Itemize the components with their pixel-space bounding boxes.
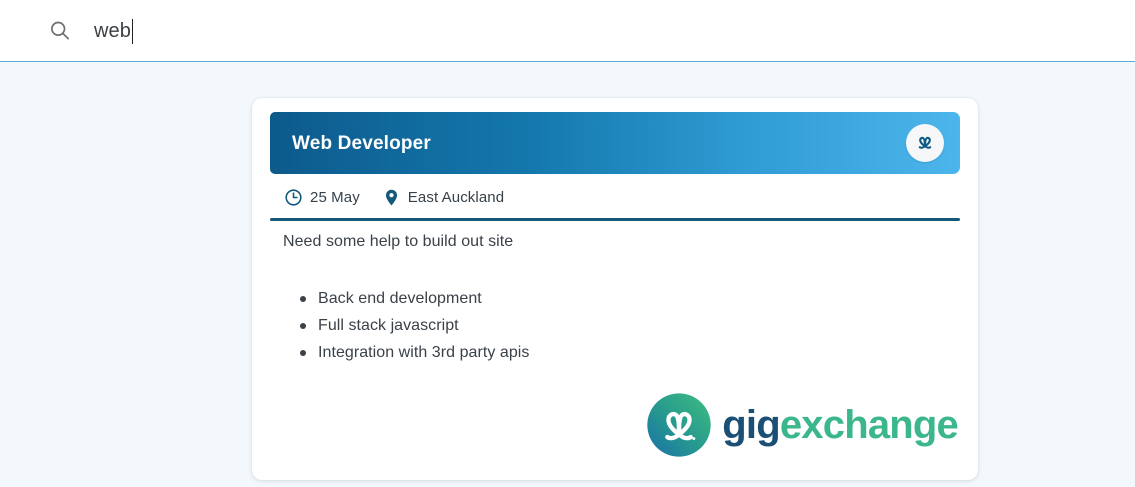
page-title: Web Developer — [292, 133, 431, 155]
job-listing-card[interactable]: Web Developer 25 May — [252, 98, 978, 480]
search-bar: web — [0, 0, 1135, 62]
list-item: Full stack javascript — [300, 313, 529, 339]
meta-date: 25 May — [284, 188, 360, 207]
search-icon[interactable] — [48, 19, 72, 43]
gigexchange-logo-icon — [646, 392, 712, 458]
brand-lockup: gig exchange — [646, 392, 958, 458]
brand-word-exchange: exchange — [780, 404, 958, 446]
list-item: Back end development — [300, 286, 529, 312]
brand-word-gig: gig — [722, 404, 780, 446]
bullet-icon — [300, 323, 306, 329]
clock-icon — [284, 188, 303, 207]
section-divider — [270, 218, 960, 221]
meta-location: East Auckland — [382, 188, 504, 207]
text-caret — [132, 19, 133, 44]
brand-wordmark: gig exchange — [722, 404, 958, 446]
search-input[interactable]: web — [94, 13, 133, 49]
job-requirements-list: Back end development Full stack javascri… — [300, 286, 529, 366]
search-input-value: web — [94, 18, 131, 44]
job-description: Need some help to build out site — [283, 233, 513, 251]
gigexchange-knot-icon — [913, 131, 937, 155]
card-logo-badge[interactable] — [906, 124, 944, 162]
card-meta-row: 25 May East Auckland — [284, 186, 526, 208]
bullet-icon — [300, 350, 306, 356]
results-area: Web Developer 25 May — [0, 63, 1135, 487]
list-item-label: Full stack javascript — [318, 317, 459, 335]
list-item-label: Integration with 3rd party apis — [318, 344, 529, 362]
list-item-label: Back end development — [318, 290, 482, 308]
location-pin-icon — [382, 188, 401, 207]
bullet-icon — [300, 296, 306, 302]
meta-date-label: 25 May — [310, 189, 360, 206]
meta-location-label: East Auckland — [408, 189, 504, 206]
card-header: Web Developer — [270, 112, 960, 174]
list-item: Integration with 3rd party apis — [300, 340, 529, 366]
